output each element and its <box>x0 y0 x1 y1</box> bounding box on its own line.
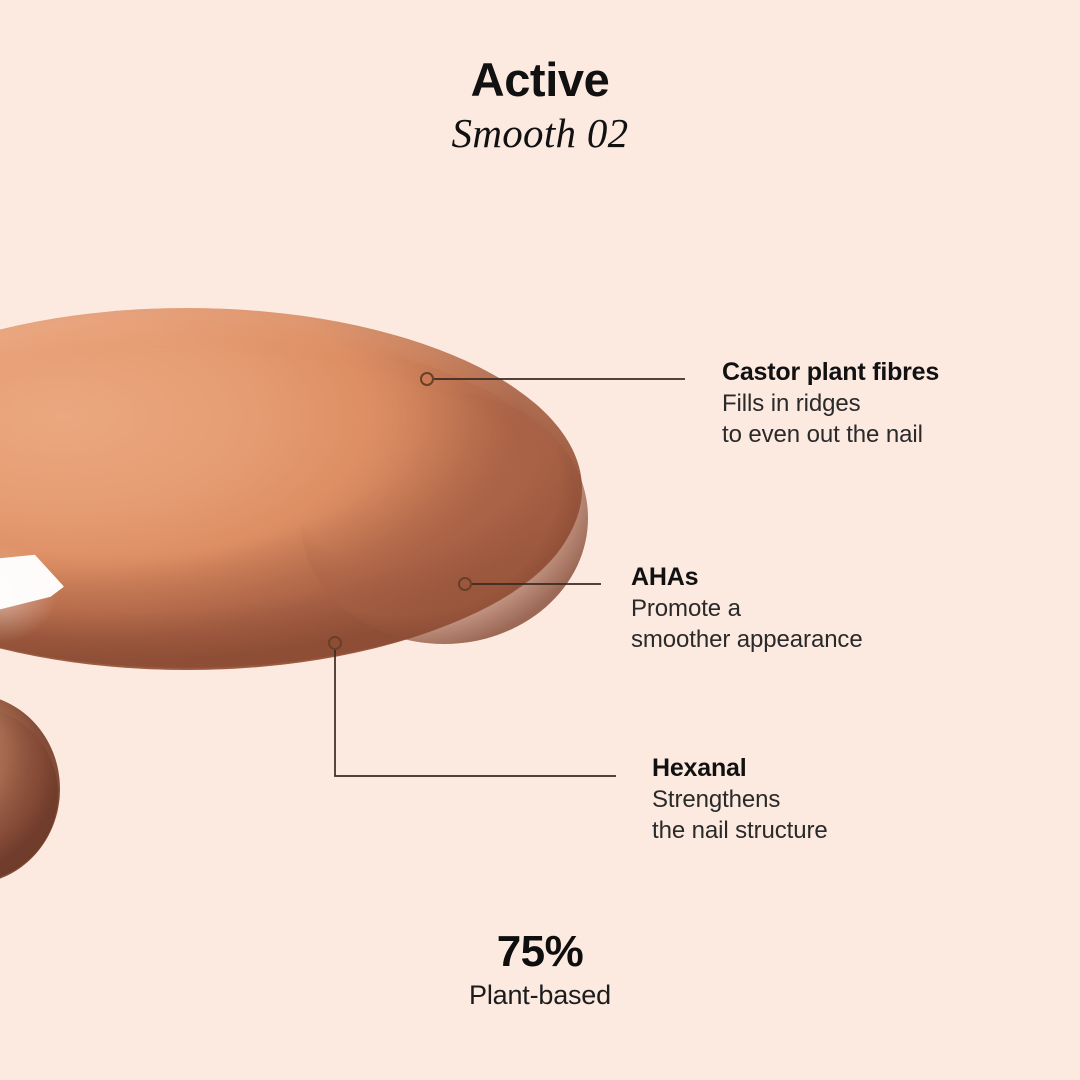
plant-based-stat: 75% Plant-based <box>0 928 1080 1013</box>
leader-lines <box>0 0 1080 1080</box>
leader-line-ahas <box>459 578 601 590</box>
leader-line-castor <box>421 373 685 385</box>
callout-description: Strengthens the nail structure <box>652 785 828 847</box>
callout-description: Promote a smoother appearance <box>631 594 863 656</box>
callout-title: Hexanal <box>652 752 828 784</box>
leader-line-hexanal <box>329 637 616 776</box>
callout-ahas: AHAs Promote a smoother appearance <box>631 561 863 656</box>
callout-description: Fills in ridges to even out the nail <box>722 389 939 451</box>
callout-castor-plant-fibres: Castor plant fibres Fills in ridges to e… <box>722 356 939 451</box>
product-ingredient-infographic: Active Smooth 02 Castor plant fibres <box>0 0 1080 1080</box>
stat-label: Plant-based <box>0 978 1080 1013</box>
callout-hexanal: Hexanal Strengthens the nail structure <box>652 752 828 847</box>
callout-title: Castor plant fibres <box>722 356 939 388</box>
callout-title: AHAs <box>631 561 863 593</box>
stat-value: 75% <box>0 928 1080 976</box>
